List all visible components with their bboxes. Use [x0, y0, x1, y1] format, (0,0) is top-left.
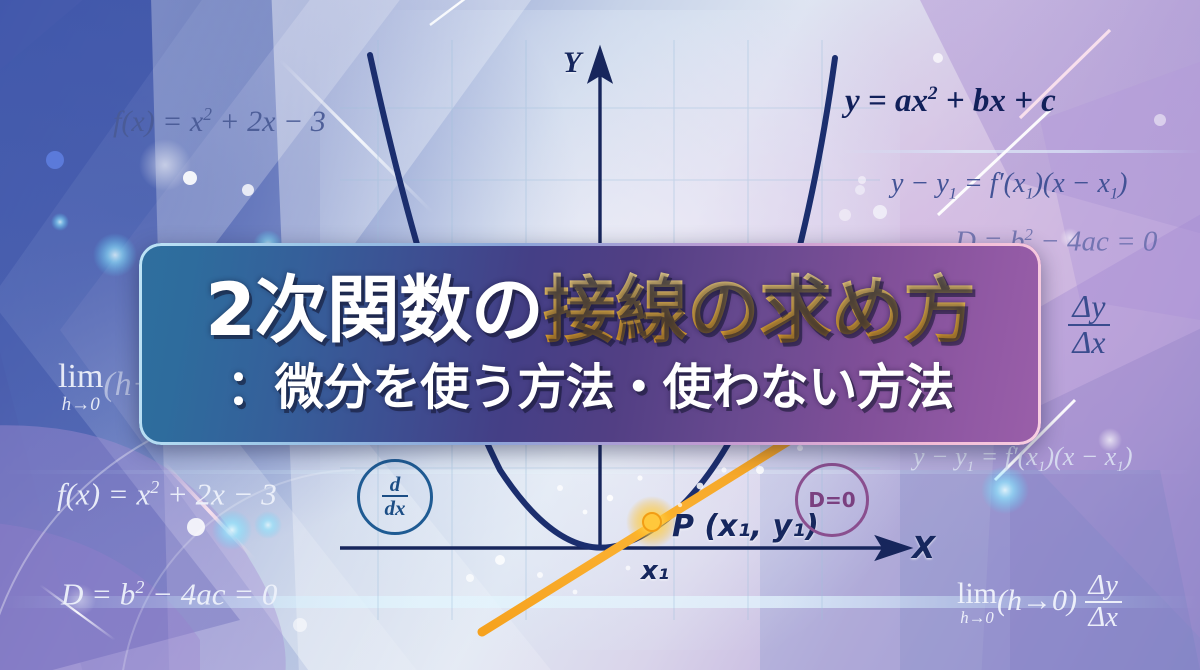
discriminant-badge-text: D=0 [808, 488, 855, 512]
x-axis-label: X [912, 531, 935, 566]
title-main: 2次関数の接線の求め方 [205, 274, 975, 347]
title-plate: 2次関数の接線の求め方 ：微分を使う方法・使わない方法 [139, 243, 1041, 445]
derivative-numerator: d [382, 473, 409, 495]
title-main-part1: 2次関数の [205, 268, 543, 353]
discriminant-badge: D=0 [795, 463, 869, 537]
title-main-part2: 接線の求め方 [543, 268, 975, 353]
derivative-denominator: dx [382, 495, 409, 519]
x1-tick-label: x₁ [641, 556, 669, 586]
derivative-badge: d dx [357, 459, 433, 535]
tangent-point [643, 513, 661, 531]
title-subtitle: ：微分を使う方法・使わない方法 [226, 363, 954, 412]
point-label: P (x₁, y₁) [672, 509, 819, 544]
y-axis-label: Y [563, 46, 581, 80]
poster-canvas: Y X P (x₁, y₁) x₁ d dx D=0 f(x) = x2 + 2… [0, 0, 1200, 670]
